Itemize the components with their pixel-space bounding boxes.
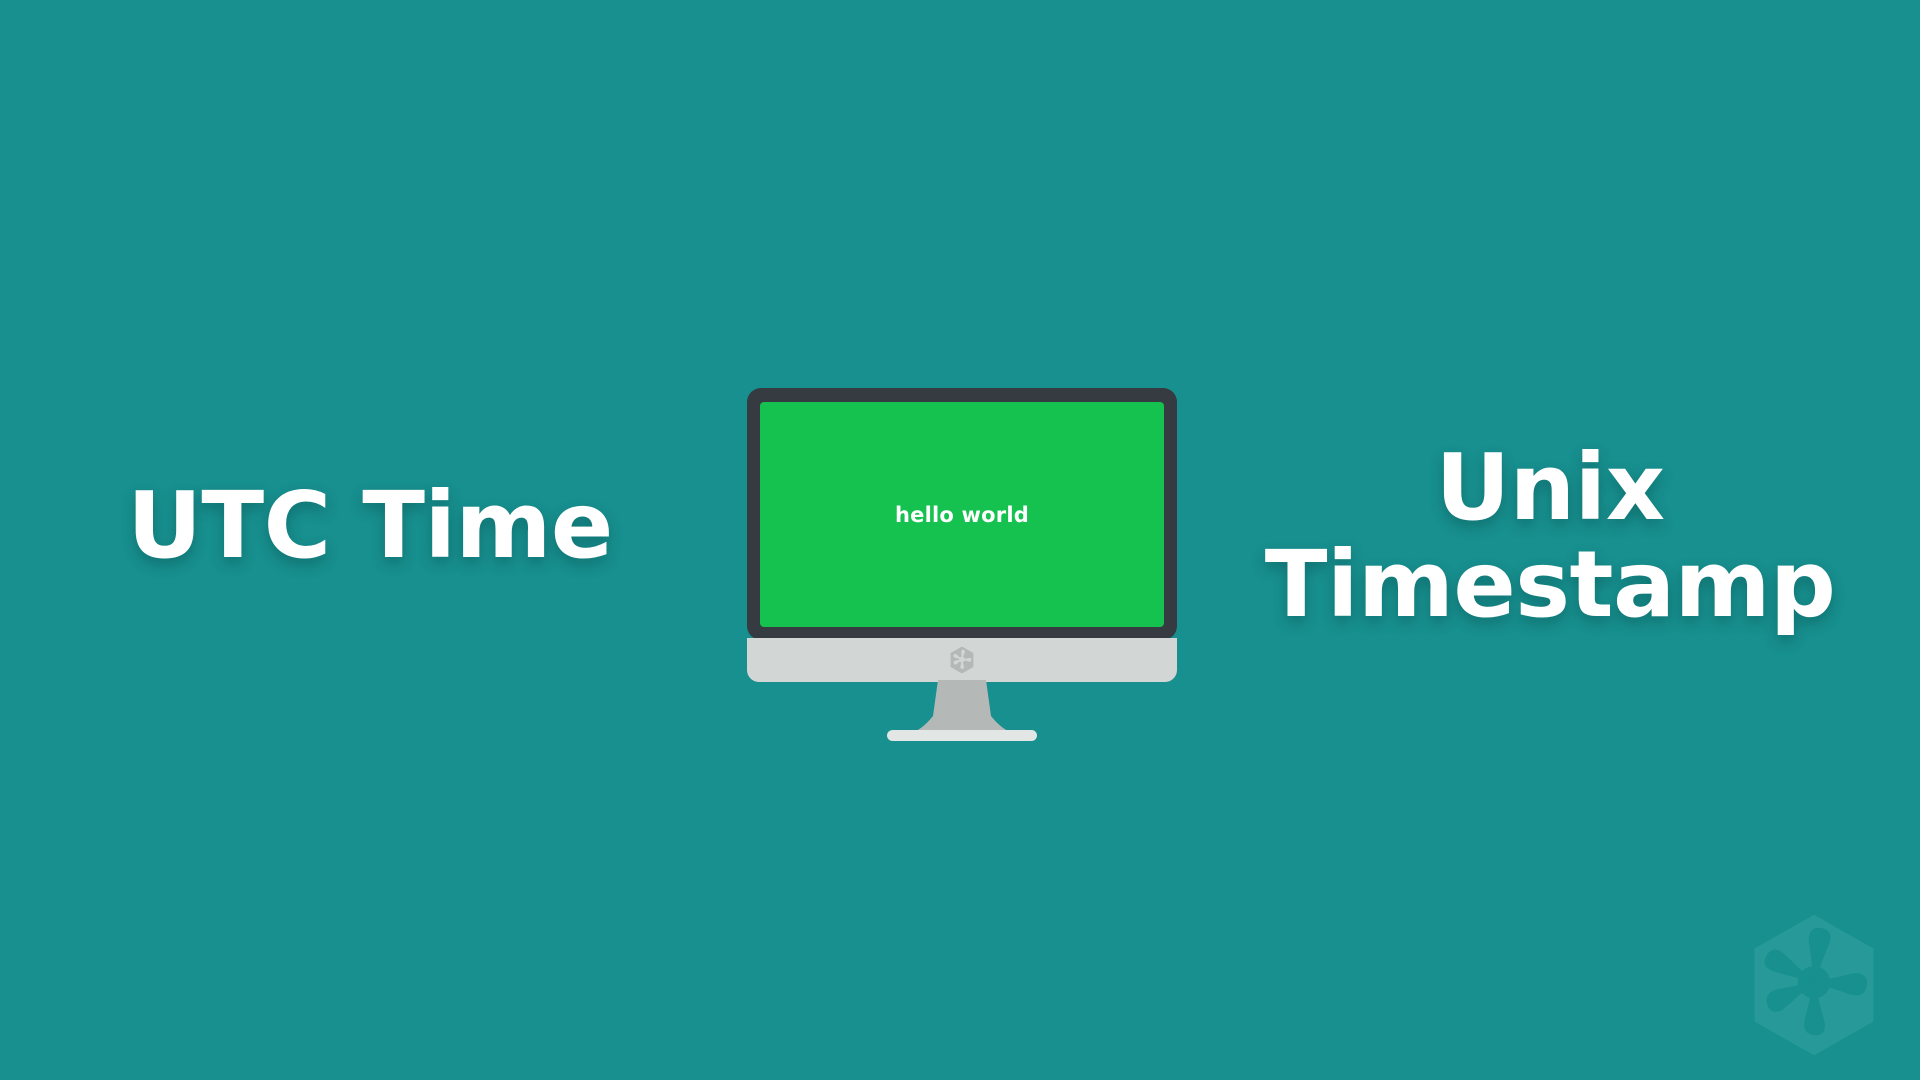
monitor-stand	[907, 680, 1017, 734]
slide-canvas: UTC Time Unix Timestamp hello world	[0, 0, 1920, 1080]
egghead-hexagon-icon	[949, 646, 975, 674]
monitor-bezel: hello world	[747, 388, 1177, 640]
right-label: Unix Timestamp	[1180, 440, 1920, 633]
left-label: UTC Time	[0, 478, 740, 575]
monitor-base	[887, 730, 1037, 741]
monitor-chin	[747, 638, 1177, 682]
egghead-watermark-icon	[1746, 912, 1882, 1058]
screen-text: hello world	[895, 503, 1029, 527]
monitor-screen: hello world	[760, 402, 1164, 627]
monitor-illustration: hello world	[747, 388, 1177, 740]
